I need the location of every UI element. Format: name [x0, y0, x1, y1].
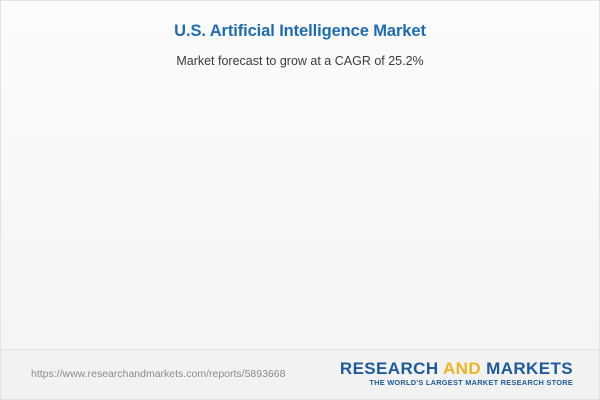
- brand-name-part2: MARKETS: [481, 359, 573, 378]
- brand-logo[interactable]: RESEARCH AND MARKETS THE WORLD'S LARGEST…: [340, 359, 573, 388]
- footer: https://www.researchandmarkets.com/repor…: [1, 350, 599, 399]
- brand-name-part1: RESEARCH: [340, 359, 443, 378]
- brand-tagline: THE WORLD'S LARGEST MARKET RESEARCH STOR…: [340, 378, 573, 388]
- plot-area: USD 24.08 Billion: [1, 1, 600, 349]
- chart-canvas: U.S. Artificial Intelligence Market Mark…: [0, 0, 600, 400]
- report-url[interactable]: https://www.researchandmarkets.com/repor…: [31, 368, 285, 380]
- brand-name: RESEARCH AND MARKETS: [340, 359, 573, 378]
- footer-divider: [1, 349, 599, 350]
- brand-name-and: AND: [443, 359, 481, 378]
